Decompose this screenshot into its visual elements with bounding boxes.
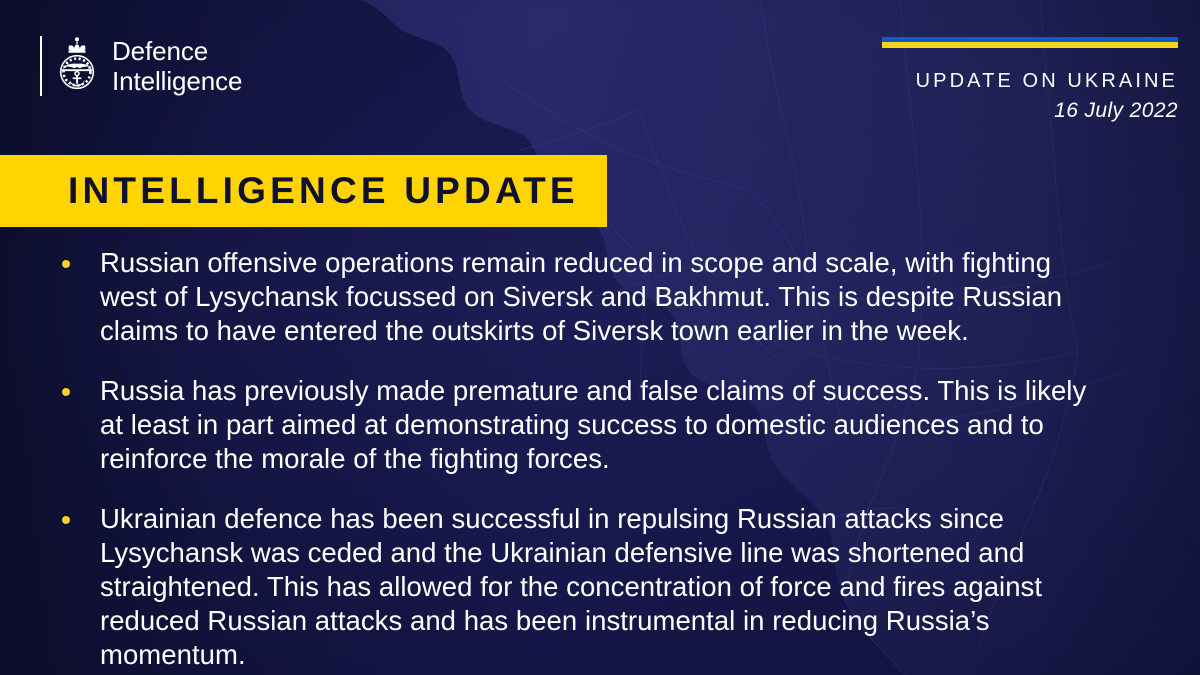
flag-stripe-yellow	[882, 42, 1178, 48]
list-item: Ukrainian defence has been successful in…	[62, 502, 1132, 672]
ukraine-flag-bar-icon	[882, 37, 1178, 48]
brand-line-intelligence: Intelligence	[112, 66, 242, 96]
intelligence-update-banner: INTELLIGENCE UPDATE	[0, 155, 607, 227]
brand-line-defence: Defence	[112, 36, 242, 66]
update-title: UPDATE ON UKRAINE	[578, 70, 1178, 93]
bullet-dot-icon	[62, 260, 70, 268]
bullet-text: Ukrainian defence has been successful in…	[100, 502, 1100, 672]
bullet-text: Russian offensive operations remain redu…	[100, 246, 1100, 348]
defence-intelligence-crest-icon	[55, 36, 99, 94]
bullet-dot-icon	[62, 516, 70, 524]
intelligence-update-graphic: Defence Intelligence UPDATE ON UKRAINE 1…	[0, 0, 1200, 675]
logo-divider-rule	[40, 36, 42, 96]
list-item: Russia has previously made premature and…	[62, 374, 1132, 476]
list-item: Russian offensive operations remain redu…	[62, 246, 1132, 348]
bullet-dot-icon	[62, 388, 70, 396]
bullet-text: Russia has previously made premature and…	[100, 374, 1100, 476]
banner-label: INTELLIGENCE UPDATE	[0, 170, 579, 212]
defence-intelligence-logo: Defence Intelligence	[40, 36, 242, 96]
brand-wordmark: Defence Intelligence	[112, 36, 242, 96]
bullet-list: Russian offensive operations remain redu…	[62, 246, 1132, 672]
update-date: 16 July 2022	[578, 99, 1178, 123]
